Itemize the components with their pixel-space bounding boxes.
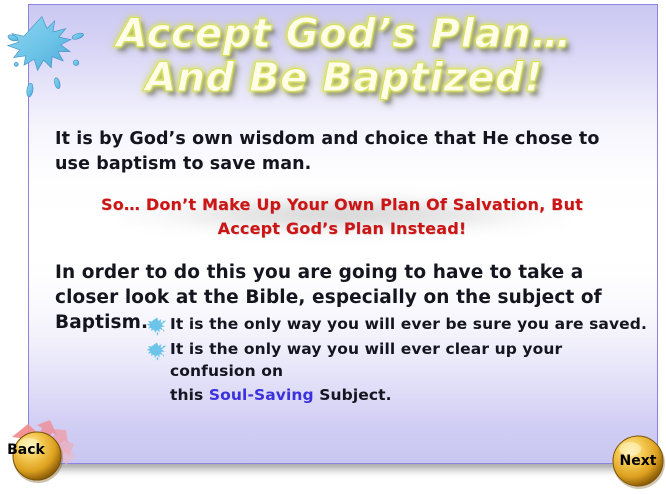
list-item-label: It is the only way you will ever clear u… — [170, 338, 647, 382]
continuation-prefix: this — [170, 386, 209, 404]
emphasis-line-2: Accept God’s Plan Instead! — [87, 217, 597, 241]
list-item: It is the only way you will ever be sure… — [147, 313, 647, 336]
gold-sphere-icon — [610, 434, 666, 490]
emphasis-line-1: So… Don’t Make Up Your Own Plan Of Salva… — [87, 193, 597, 217]
soul-saving-highlight: Soul-Saving — [209, 386, 314, 404]
page-title: Accept God’s Plan… And Be Baptized! — [29, 11, 659, 102]
paint-splat-bullet-icon — [147, 340, 167, 361]
continuation-suffix: Subject. — [314, 386, 392, 404]
emphasis-callout: So… Don’t Make Up Your Own Plan Of Salva… — [87, 193, 597, 241]
next-button[interactable]: Next — [610, 434, 666, 490]
list-item: It is the only way you will ever clear u… — [147, 338, 647, 382]
title-line-1: Accept God’s Plan… — [29, 11, 659, 58]
slide-canvas: Accept God’s Plan… And Be Baptized! It i… — [0, 0, 666, 492]
list-item-label: It is the only way you will ever be sure… — [170, 313, 647, 335]
paint-splat-bullet-icon — [147, 315, 167, 336]
paint-splat-icon — [4, 8, 90, 102]
back-arrows-icon — [2, 410, 94, 490]
list-item-continuation: this Soul-Saving Subject. — [170, 384, 647, 406]
slide-content-panel: Accept God’s Plan… And Be Baptized! It i… — [28, 4, 658, 464]
back-button[interactable]: Back — [2, 410, 94, 490]
bullet-list: It is the only way you will ever be sure… — [147, 313, 647, 406]
title-line-2: And Be Baptized! — [29, 55, 659, 102]
body-paragraph-1: It is by God’s own wisdom and choice tha… — [55, 127, 640, 177]
panel-bottom-shadow — [40, 462, 654, 478]
